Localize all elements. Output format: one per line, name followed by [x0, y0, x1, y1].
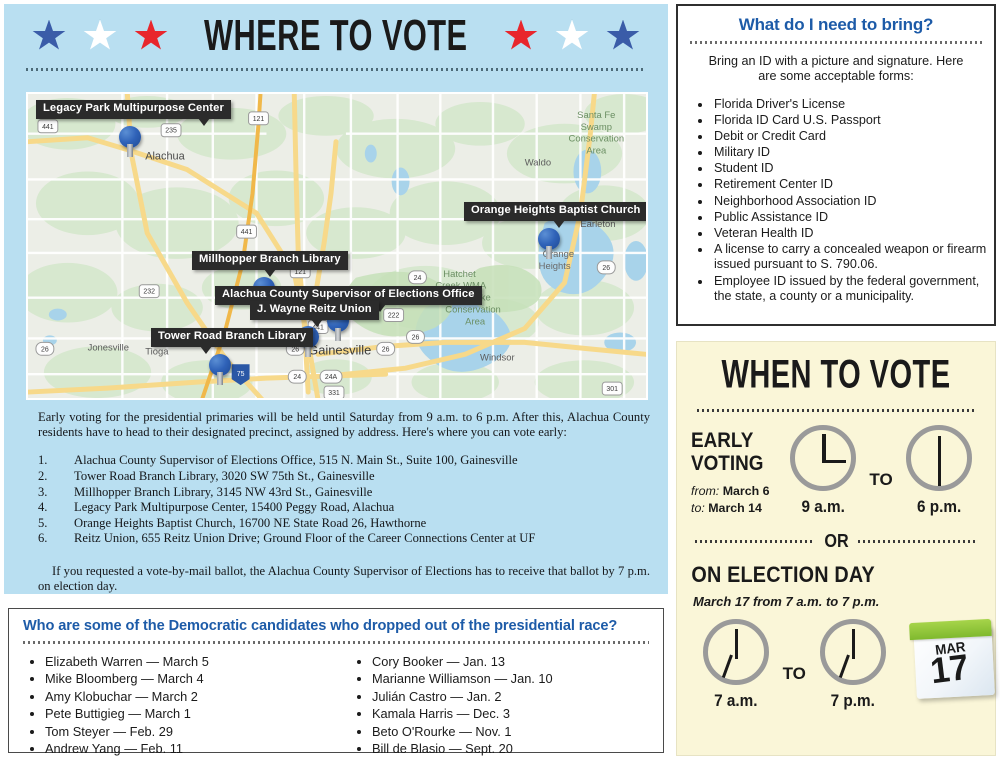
svg-text:26: 26: [412, 334, 420, 341]
svg-text:24: 24: [414, 275, 422, 282]
svg-text:Santa Fe: Santa Fe: [577, 109, 615, 120]
list-number: 1.: [38, 453, 74, 469]
star-group-left: [32, 20, 168, 53]
map-label-reitz-union[interactable]: J. Wayne Reitz Union: [250, 301, 379, 320]
eday-close-clock-block: 7 p.m.: [810, 619, 896, 711]
page-title: WHERE TO VOTE: [204, 11, 468, 61]
or-dash-right: [858, 540, 978, 543]
svg-text:26: 26: [602, 265, 610, 272]
list-item: 3. Millhopper Branch Library, 3145 NW 43…: [38, 485, 650, 501]
svg-text:Tioga: Tioga: [145, 345, 169, 356]
clock-9am-icon: [790, 425, 856, 491]
candidates-columns: Elizabeth Warren — March 5 Mike Bloomber…: [9, 644, 663, 757]
svg-text:Area: Area: [586, 145, 607, 156]
list-item: Debit or Credit Card: [712, 129, 994, 145]
list-item: 2. Tower Road Branch Library, 3020 SW 75…: [38, 469, 650, 485]
eday-open-clock-block: 7 a.m.: [693, 619, 779, 711]
eday-open-time: 7 a.m.: [697, 691, 774, 711]
what-to-bring-title: What do I need to bring?: [678, 6, 994, 41]
or-separator-row: OR: [677, 517, 995, 552]
early-voting-location-list: 1. Alachua County Supervisor of Election…: [38, 453, 650, 547]
svg-text:Swamp: Swamp: [581, 121, 612, 132]
svg-text:75: 75: [237, 371, 245, 378]
clock-hand-hour: [852, 629, 856, 659]
pin-stem-icon: [335, 328, 341, 341]
list-item: A license to carry a concealed weapon or…: [712, 242, 994, 273]
early-open-time: 9 a.m.: [785, 497, 861, 517]
list-item: Military ID: [712, 145, 994, 161]
svg-text:Heights: Heights: [539, 260, 571, 271]
list-item: Andrew Yang — Feb. 11: [45, 740, 336, 757]
list-text: Alachua County Supervisor of Elections O…: [74, 453, 518, 469]
pin-stem-icon: [127, 144, 133, 157]
map-label-millhopper[interactable]: Millhopper Branch Library: [192, 251, 348, 270]
list-item: Mike Bloomberg — March 4: [45, 670, 336, 687]
to-word-eday: TO: [779, 664, 810, 684]
list-text: Orange Heights Baptist Church, 16700 NE …: [74, 516, 426, 532]
early-close-time: 6 p.m.: [901, 497, 977, 517]
list-item: Student ID: [712, 161, 994, 177]
where-to-vote-panel: WHERE TO VOTE: [4, 4, 668, 594]
early-voting-dates: from: March 6 to: March 14: [691, 483, 781, 517]
star-red-icon: [134, 20, 168, 53]
early-close-clock-block: 6 p.m.: [897, 425, 981, 517]
svg-text:Hatchet: Hatchet: [443, 268, 476, 279]
svg-text:121: 121: [253, 116, 265, 123]
map-label-legacy-park[interactable]: Legacy Park Multipurpose Center: [36, 100, 231, 119]
map-label-tower-road[interactable]: Tower Road Branch Library: [151, 328, 313, 347]
list-item: 6. Reitz Union, 655 Reitz Union Drive; G…: [38, 531, 650, 547]
list-item: Public Assistance ID: [712, 210, 994, 226]
clock-hand-minute: [722, 654, 733, 678]
list-item: Kamala Harris — Dec. 3: [372, 705, 663, 722]
candidates-title: Who are some of the Democratic candidate…: [9, 609, 663, 634]
clock-hand-vertical: [938, 436, 942, 486]
svg-text:Alachua: Alachua: [145, 151, 185, 163]
to-value: March 14: [708, 501, 762, 515]
list-item: Retirement Center ID: [712, 177, 994, 193]
pin-stem-icon: [546, 246, 552, 259]
pin-stem-icon: [217, 372, 223, 385]
svg-text:Conservation: Conservation: [569, 133, 625, 144]
svg-text:Windsor: Windsor: [480, 351, 515, 362]
list-item: Employee ID issued by the federal govern…: [712, 274, 994, 305]
svg-text:26: 26: [41, 346, 49, 353]
clock-hand-minute: [839, 654, 850, 678]
star-white-icon: [83, 20, 117, 53]
list-item: Florida Driver's License: [712, 97, 994, 113]
list-item: Pete Buttigieg — March 1: [45, 705, 336, 722]
list-number: 6.: [38, 531, 74, 547]
svg-text:Jonesville: Jonesville: [88, 341, 129, 352]
svg-text:Waldo: Waldo: [525, 157, 551, 168]
list-item: 4. Legacy Park Multipurpose Center, 1540…: [38, 500, 650, 516]
election-day-subtitle: March 17 from 7 a.m. to 7 p.m.: [677, 588, 995, 609]
clock-7am-icon: [703, 619, 769, 685]
header-divider: [26, 68, 646, 71]
list-item: 1. Alachua County Supervisor of Election…: [38, 453, 650, 469]
early-voting-row: EARLY VOTING from: March 6 to: March 14 …: [677, 412, 995, 517]
or-word: OR: [824, 531, 848, 552]
from-label: from:: [691, 484, 719, 498]
mail-ballot-note: If you requested a vote-by-mail ballot, …: [38, 564, 650, 594]
or-dash-left: [695, 540, 815, 543]
early-voting-kicker-line2: VOTING: [691, 452, 772, 475]
list-item: Marianne Williamson — Jan. 10: [372, 670, 663, 687]
list-item: Tom Steyer — Feb. 29: [45, 723, 336, 740]
star-group-right: [504, 20, 640, 53]
list-item: Amy Klobuchar — March 2: [45, 688, 336, 705]
when-to-vote-title: WHEN TO VOTE: [696, 337, 976, 398]
to-word-early: TO: [865, 470, 896, 490]
list-number: 4.: [38, 500, 74, 516]
early-open-clock-block: 9 a.m.: [781, 425, 865, 517]
list-item: Elizabeth Warren — March 5: [45, 653, 336, 670]
candidates-column-right: Cory Booker — Jan. 13 Marianne Williamso…: [336, 653, 663, 757]
early-voting-label-block: EARLY VOTING from: March 6 to: March 14: [691, 425, 781, 517]
list-item: Bill de Blasio — Sept. 20: [372, 740, 663, 757]
infographic-page: WHERE TO VOTE: [0, 0, 1000, 760]
list-item: Cory Booker — Jan. 13: [372, 653, 663, 670]
election-day-row: 7 a.m. TO 7 p.m. MAR 17: [677, 609, 995, 711]
svg-text:Conservation: Conservation: [445, 304, 501, 315]
svg-text:301: 301: [606, 386, 618, 393]
dropped-out-candidates-panel: Who are some of the Democratic candidate…: [8, 608, 664, 753]
from-value: March 6: [723, 484, 770, 498]
intro-paragraph: Early voting for the presidential primar…: [38, 410, 650, 440]
list-number: 3.: [38, 485, 74, 501]
to-label: to:: [691, 501, 705, 515]
svg-text:441: 441: [42, 124, 54, 131]
map-pin-tower-road[interactable]: [209, 354, 231, 384]
clock-hand-hour: [735, 629, 739, 659]
star-blue-icon: [606, 20, 640, 53]
list-item: 5. Orange Heights Baptist Church, 16700 …: [38, 516, 650, 532]
svg-text:24: 24: [293, 374, 301, 381]
svg-text:26: 26: [382, 346, 390, 353]
svg-text:Area: Area: [465, 316, 486, 327]
where-to-vote-body: Early voting for the presidential primar…: [38, 410, 650, 594]
list-item: Veteran Health ID: [712, 226, 994, 242]
star-blue-icon: [32, 20, 66, 53]
list-item: Neighborhood Association ID: [712, 194, 994, 210]
list-text: Millhopper Branch Library, 3145 NW 43rd …: [74, 485, 372, 501]
list-item: Florida ID Card U.S. Passport: [712, 113, 994, 129]
svg-text:235: 235: [165, 128, 177, 135]
what-to-bring-subtitle: Bring an ID with a picture and signature…: [678, 44, 994, 84]
when-to-vote-panel: WHEN TO VOTE EARLY VOTING from: March 6 …: [676, 341, 996, 756]
list-text: Reitz Union, 655 Reitz Union Drive; Grou…: [74, 531, 535, 547]
star-white-icon: [555, 20, 589, 53]
list-number: 2.: [38, 469, 74, 485]
star-red-icon: [504, 20, 538, 53]
clock-hand-minute: [822, 460, 846, 464]
eday-close-time: 7 p.m.: [814, 691, 891, 711]
svg-text:441: 441: [241, 229, 253, 236]
list-text: Legacy Park Multipurpose Center, 15400 P…: [74, 500, 394, 516]
locations-map[interactable]: Santa Fe Swamp Conservation Area Waldo E…: [26, 92, 648, 400]
list-item: Julián Castro — Jan. 2: [372, 688, 663, 705]
svg-text:222: 222: [388, 313, 400, 320]
calendar-day: 17: [929, 649, 971, 689]
map-pin-legacy-park[interactable]: [119, 126, 141, 156]
early-voting-kicker-line1: EARLY: [691, 429, 772, 452]
list-text: Tower Road Branch Library, 3020 SW 75th …: [74, 469, 375, 485]
svg-text:24A: 24A: [325, 374, 338, 381]
acceptable-id-list: Florida Driver's License Florida ID Card…: [678, 84, 994, 305]
svg-text:232: 232: [143, 289, 155, 296]
list-item: Beto O'Rourke — Nov. 1: [372, 723, 663, 740]
svg-text:121: 121: [294, 269, 306, 276]
what-to-bring-panel: What do I need to bring? Bring an ID wit…: [676, 4, 996, 326]
map-pin-orange-heights[interactable]: [538, 228, 560, 258]
election-day-title: ON ELECTION DAY: [677, 552, 963, 588]
map-label-orange-heights[interactable]: Orange Heights Baptist Church: [464, 202, 648, 221]
clock-7pm-icon: [820, 619, 886, 685]
clock-6pm-icon: [906, 425, 972, 491]
list-number: 5.: [38, 516, 74, 532]
where-to-vote-header: WHERE TO VOTE: [4, 4, 668, 68]
svg-text:331: 331: [328, 390, 340, 397]
calendar-march-17-icon: MAR 17: [907, 619, 997, 701]
candidates-column-left: Elizabeth Warren — March 5 Mike Bloomber…: [9, 653, 336, 757]
